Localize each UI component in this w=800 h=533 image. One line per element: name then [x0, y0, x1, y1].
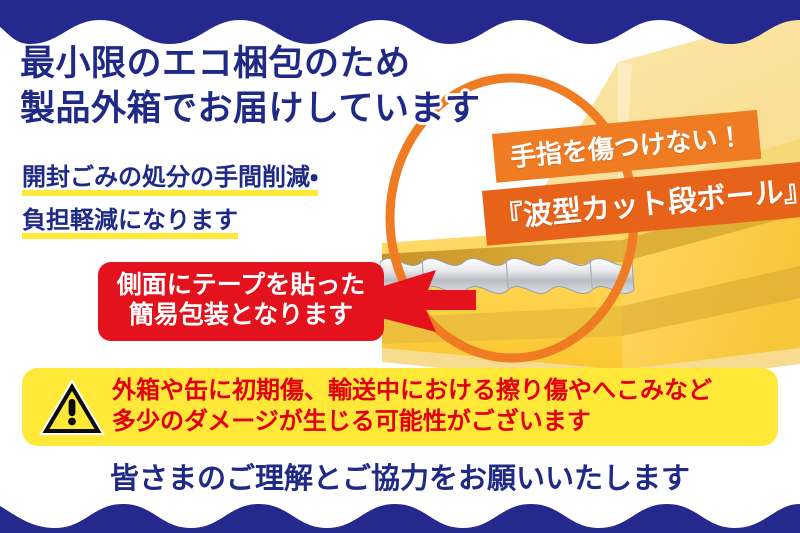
headline-line-2: 製品外箱でお届けしています — [20, 87, 480, 132]
page-title: 最小限のエコ梱包のため 製品外箱でお届けしています — [20, 42, 480, 132]
orange-banner-group: 手指を傷つけない！ 『波型カット段ボール』 — [492, 134, 800, 238]
red-callout-box: 側面にテープを貼った 簡易包装となります — [98, 262, 384, 341]
subtitle-line-2: 負担軽減になります — [22, 209, 238, 239]
warning-line-2: 多少のダメージが生じる可能性がございます — [112, 407, 712, 438]
red-callout-line-1: 側面にテープを貼った — [104, 271, 378, 301]
warning-line-1: 外箱や缶に初期傷、輸送中における擦り傷やへこみなど — [112, 376, 712, 407]
warning-triangle-icon — [36, 375, 108, 439]
closing-message: 皆さまのご理解とご協力をお願いいたします — [0, 455, 800, 497]
red-callout-line-2: 簡易包装となります — [104, 301, 378, 331]
subtitle-line-1: 開封ごみの処分の手間削減・ — [22, 166, 318, 196]
promo-banner-root: 最小限のエコ梱包のため 製品外箱でお届けしています 開封ごみの処分の手間削減・ … — [0, 0, 800, 533]
subtitle: 開封ごみの処分の手間削減・ 負担軽減になります — [22, 166, 318, 252]
warning-notice-box: 外箱や缶に初期傷、輸送中における擦り傷やへこみなど 多少のダメージが生じる可能性… — [22, 368, 778, 446]
headline-line-1: 最小限のエコ梱包のため — [20, 42, 480, 87]
warning-text: 外箱や缶に初期傷、輸送中における擦り傷やへこみなど 多少のダメージが生じる可能性… — [112, 376, 712, 437]
